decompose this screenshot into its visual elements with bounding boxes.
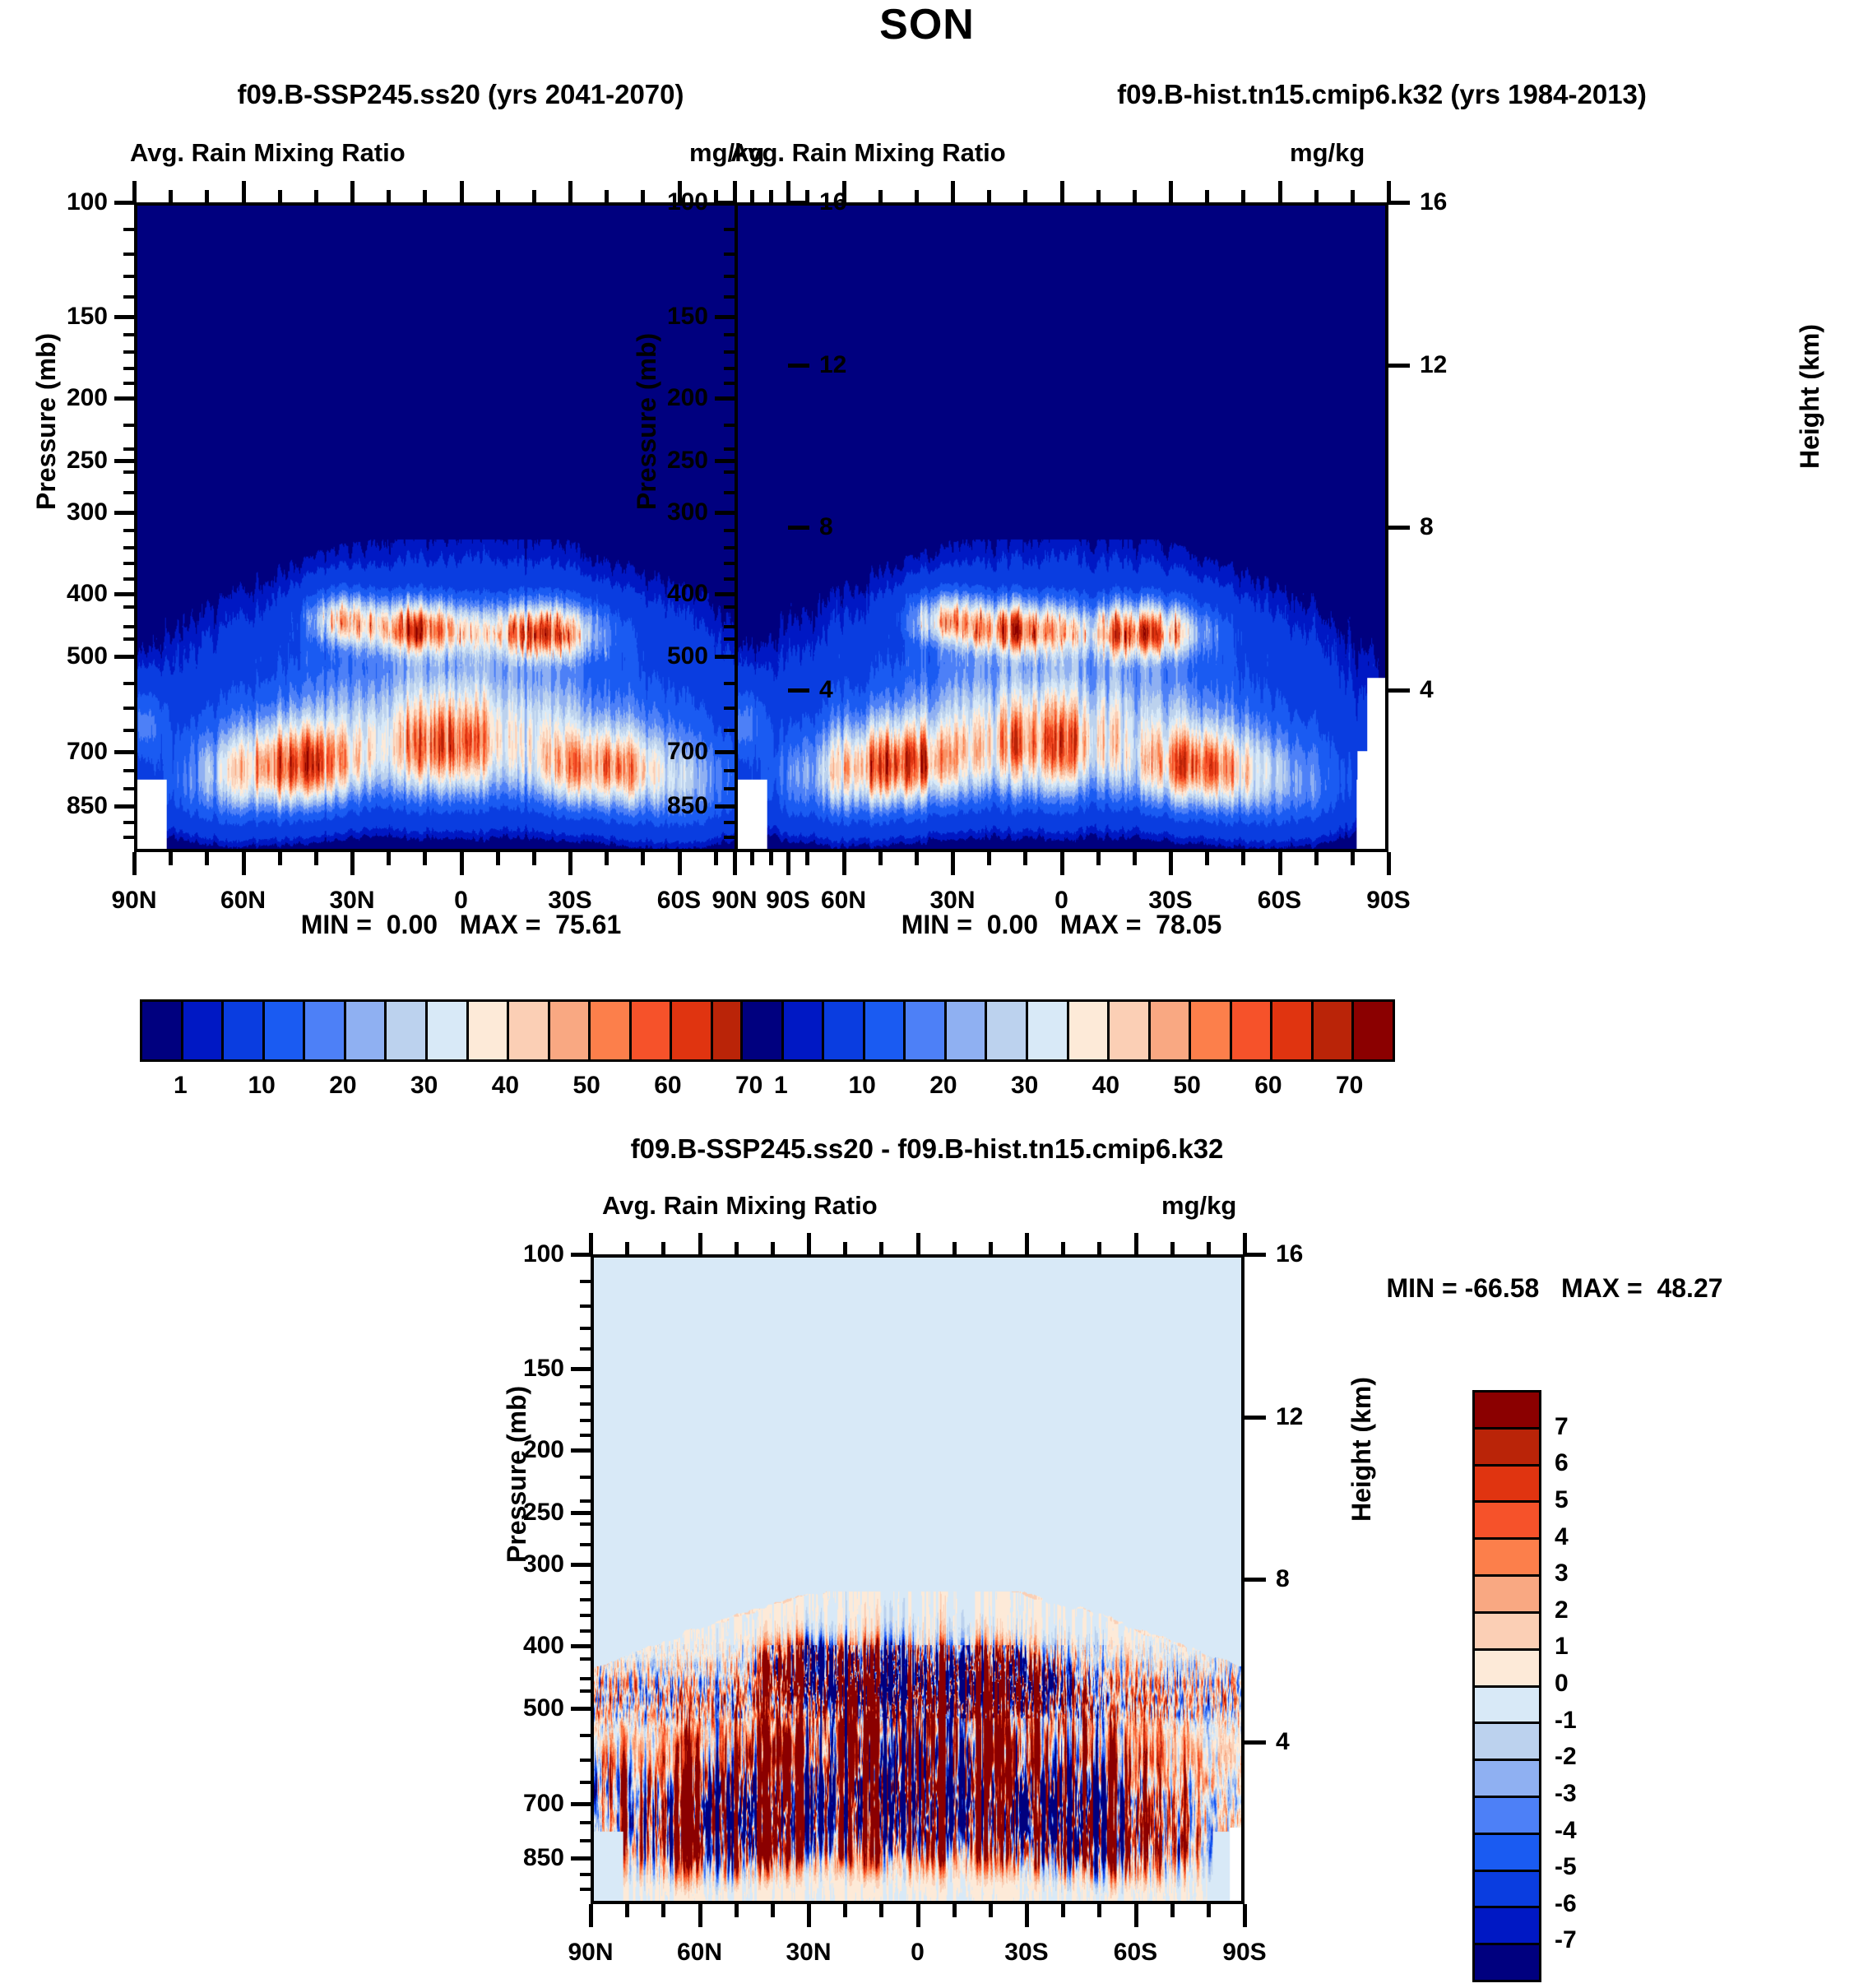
y-tick-minor — [724, 729, 735, 732]
x-tick-minor-top — [423, 190, 427, 202]
colorbar-cell[interactable] — [824, 1002, 865, 1059]
x-tick-major-top — [1060, 181, 1064, 202]
y-tick-minor — [123, 367, 135, 370]
x-tick-minor-top — [843, 1242, 847, 1254]
x-tick-major-top — [698, 1233, 702, 1254]
colorbar-cell[interactable] — [346, 1002, 387, 1059]
y-tick-minor — [580, 1689, 591, 1693]
colorbar-cell[interactable] — [1028, 1002, 1069, 1059]
colorbar-cell[interactable] — [632, 1002, 673, 1059]
y-tick-minor — [123, 253, 135, 256]
colorbar-cell[interactable] — [1232, 1002, 1273, 1059]
colorbar-cell[interactable] — [1475, 1503, 1539, 1540]
x-tick-major-bottom — [1169, 852, 1173, 875]
colorbar-tick-label: -5 — [1555, 1853, 1577, 1881]
colorbar-cell[interactable] — [469, 1002, 510, 1059]
y2-tick-label: 16 — [819, 188, 877, 216]
y-tick-label: 400 — [459, 1632, 564, 1660]
x-tick-major-top — [916, 1233, 920, 1254]
y-tick-label: 400 — [603, 580, 708, 608]
y2-tick-major — [1244, 1740, 1266, 1745]
y-tick-minor — [724, 605, 735, 609]
y-tick-minor — [123, 382, 135, 385]
colorbar-cell[interactable] — [1475, 1908, 1539, 1945]
x-tick-minor-bottom — [915, 852, 919, 865]
panel-bottom-diff-ylabel: Pressure (mb) — [502, 1386, 532, 1563]
y2-tick-major — [788, 364, 809, 368]
colorbar-cell[interactable] — [672, 1002, 713, 1059]
y-tick-minor — [580, 1629, 591, 1633]
y-tick-major — [571, 1802, 592, 1806]
colorbar-tick-label: 2 — [1555, 1596, 1569, 1624]
x-tick-minor-top — [1351, 190, 1355, 202]
y-tick-minor — [123, 350, 135, 354]
y-tick-minor — [123, 787, 135, 790]
x-tick-major-bottom — [842, 852, 846, 875]
x-tick-minor-top — [989, 1242, 993, 1254]
y-tick-minor — [123, 637, 135, 641]
x-tick-major-top — [589, 1233, 593, 1254]
colorbar-tick-label: 7 — [1555, 1413, 1569, 1441]
colorbar-tick-label: 50 — [1173, 1072, 1200, 1100]
y-tick-minor — [724, 333, 735, 336]
x-tick-minor-bottom — [714, 852, 718, 865]
colorbar-cell[interactable] — [784, 1002, 825, 1059]
panel-bottom-diff-units-label: mg/kg — [1161, 1191, 1236, 1221]
y2-tick-label: 16 — [1420, 188, 1477, 216]
colorbar-cell[interactable] — [1151, 1002, 1192, 1059]
x-tick-minor-bottom — [987, 852, 991, 865]
x-tick-major-top — [1025, 1233, 1029, 1254]
y-tick-minor — [580, 1781, 591, 1784]
colorbar-cell[interactable] — [1272, 1002, 1314, 1059]
colorbar-cell[interactable] — [1475, 1540, 1539, 1577]
colorbar-cell[interactable] — [1475, 1467, 1539, 1504]
y-tick-minor — [724, 577, 735, 581]
x-tick-minor-top — [169, 190, 173, 202]
y-tick-minor — [724, 707, 735, 710]
y-tick-label: 300 — [603, 498, 708, 526]
colorbar-tick-label: 5 — [1555, 1486, 1569, 1514]
y-tick-minor — [580, 1327, 591, 1330]
y-tick-minor — [580, 1888, 591, 1891]
y-tick-minor — [123, 605, 135, 609]
y-tick-label: 100 — [2, 188, 108, 216]
colorbar-cell[interactable] — [224, 1002, 265, 1059]
x-tick-minor-bottom — [878, 852, 883, 865]
y-tick-minor — [580, 1677, 591, 1680]
colorbar-cell[interactable] — [550, 1002, 591, 1059]
x-tick-minor-top — [532, 190, 536, 202]
x-tick-major-bottom — [786, 852, 790, 875]
panel-top-right-y2label: Height (km) — [1795, 324, 1825, 469]
x-tick-major-bottom — [733, 852, 737, 875]
y-tick-major — [715, 396, 736, 401]
y-tick-minor — [724, 769, 735, 772]
x-tick-minor-bottom — [169, 852, 173, 865]
y-tick-label: 850 — [603, 792, 708, 820]
panel-bottom-diff-variable-label: Avg. Rain Mixing Ratio — [602, 1191, 878, 1221]
colorbar-tick-label: 40 — [1092, 1072, 1119, 1100]
y-tick-major — [571, 1448, 592, 1453]
y-tick-minor — [580, 1657, 591, 1661]
y-tick-minor — [580, 1614, 591, 1617]
y-tick-major — [114, 750, 136, 754]
x-tick-major-top — [951, 181, 955, 202]
x-tick-minor-top — [1097, 1242, 1101, 1254]
colorbar-cell[interactable] — [142, 1002, 183, 1059]
y2-tick-label: 8 — [819, 513, 877, 541]
x-tick-minor-top — [735, 1242, 739, 1254]
panel-bottom-diff-min-value: -66.58 — [1465, 1273, 1540, 1303]
y-tick-label: 200 — [2, 384, 108, 412]
x-tick-minor-bottom — [989, 1904, 993, 1917]
y-tick-minor — [123, 491, 135, 494]
x-tick-major-top — [132, 181, 137, 202]
y-tick-minor — [724, 625, 735, 628]
x-tick-minor-top — [878, 190, 883, 202]
y2-tick-major — [1244, 1578, 1266, 1582]
y2-tick-label: 8 — [1276, 1565, 1333, 1593]
x-tick-minor-top — [1133, 190, 1137, 202]
y2-tick-major — [1388, 526, 1410, 530]
x-tick-major-bottom — [1025, 1904, 1029, 1927]
colorbar-cell[interactable] — [1475, 1577, 1539, 1614]
colorbar-tick-label: 3 — [1555, 1559, 1569, 1587]
y-tick-minor — [580, 1347, 591, 1351]
y-tick-major — [715, 459, 736, 463]
y-tick-minor — [724, 787, 735, 790]
x-tick-major-bottom — [916, 1904, 920, 1927]
y2-tick-major — [1388, 688, 1410, 693]
y2-tick-major — [1388, 201, 1410, 205]
y-tick-minor — [123, 447, 135, 451]
y-tick-minor — [724, 836, 735, 839]
y-tick-minor — [580, 1522, 591, 1526]
y-tick-minor — [724, 253, 735, 256]
x-tick-minor-bottom — [769, 852, 773, 865]
panel-bottom-diff-minmax: MIN = -66.58 MAX = 48.27 — [1283, 1273, 1826, 1304]
x-tick-minor-bottom — [205, 852, 209, 865]
x-tick-major-top — [733, 181, 737, 202]
y-tick-label: 150 — [459, 1355, 564, 1383]
panel-bottom-diff-plot — [591, 1254, 1244, 1904]
x-tick-major-bottom — [1278, 852, 1282, 875]
x-tick-minor-top — [314, 190, 318, 202]
colorbar-cell[interactable] — [1475, 1430, 1539, 1467]
panel-top-right-ylabel: Pressure (mb) — [632, 333, 662, 510]
y-tick-minor — [724, 562, 735, 565]
x-tick-major-top — [460, 181, 464, 202]
y2-tick-label: 12 — [1420, 351, 1477, 379]
y-tick-minor — [123, 769, 135, 772]
panel-bottom-diff-min-label: MIN = — [1386, 1273, 1457, 1303]
panel-top-left-title: f09.B-SSP245.ss20 (yrs 2041-2070) — [33, 79, 888, 110]
x-tick-minor-top — [1096, 190, 1101, 202]
x-tick-major-top — [242, 181, 246, 202]
y-tick-minor — [724, 529, 735, 532]
y-tick-minor — [580, 1419, 591, 1422]
panel-bottom-diff-y2label: Height (km) — [1346, 1377, 1377, 1522]
x-tick-major-top — [1134, 1233, 1138, 1254]
x-tick-minor-bottom — [1205, 852, 1209, 865]
y-tick-label: 100 — [459, 1240, 564, 1268]
x-tick-minor-top — [805, 190, 809, 202]
y-tick-minor — [580, 1543, 591, 1546]
colorbar-tick-label: 70 — [735, 1072, 762, 1100]
y-tick-minor — [724, 447, 735, 451]
y-tick-label: 850 — [459, 1844, 564, 1872]
y-tick-label: 150 — [603, 303, 708, 331]
y-tick-major — [571, 1511, 592, 1515]
panel-top-left-colorbar[interactable] — [140, 999, 795, 1062]
colorbar-cell[interactable] — [1069, 1002, 1110, 1059]
y-tick-minor — [580, 1434, 591, 1437]
x-tick-minor-top — [1023, 190, 1027, 202]
panel-top-left-variable-label: Avg. Rain Mixing Ratio — [130, 138, 406, 168]
panel-bottom-diff-max-value: 48.27 — [1657, 1273, 1722, 1303]
y-tick-minor — [123, 562, 135, 565]
colorbar-tick-label: 40 — [492, 1072, 519, 1100]
y2-tick-label: 12 — [819, 351, 877, 379]
colorbar-cell[interactable] — [265, 1002, 306, 1059]
y-tick-major — [715, 655, 736, 659]
x-tick-major-bottom — [350, 852, 355, 875]
colorbar-cell[interactable] — [1314, 1002, 1355, 1059]
panel-bottom-diff-colorbar[interactable] — [1472, 1390, 1541, 1982]
y-tick-label: 300 — [2, 498, 108, 526]
colorbar-cell[interactable] — [428, 1002, 469, 1059]
y-tick-minor — [724, 491, 735, 494]
x-tick-minor-top — [1241, 190, 1245, 202]
x-tick-minor-bottom — [1133, 852, 1137, 865]
y-tick-label: 300 — [459, 1550, 564, 1578]
x-tick-minor-bottom — [1096, 852, 1101, 865]
colorbar-cell[interactable] — [305, 1002, 346, 1059]
y-tick-minor — [724, 682, 735, 685]
x-tick-major-bottom — [678, 852, 682, 875]
x-tick-minor-top — [661, 1242, 665, 1254]
y2-tick-label: 8 — [1420, 513, 1477, 541]
x-tick-minor-top — [625, 1242, 629, 1254]
colorbar-cell[interactable] — [865, 1002, 906, 1059]
x-tick-minor-bottom — [1097, 1904, 1101, 1917]
figure-suptitle: SON — [0, 0, 1854, 49]
colorbar-cell[interactable] — [183, 1002, 225, 1059]
x-tick-major-bottom — [242, 852, 246, 875]
colorbar-cell[interactable] — [1354, 1002, 1393, 1059]
y2-tick-label: 12 — [1276, 1403, 1333, 1431]
colorbar-cell[interactable] — [1475, 1688, 1539, 1725]
colorbar-tick-label: 60 — [654, 1072, 681, 1100]
colorbar-tick-label: 30 — [410, 1072, 438, 1100]
colorbar-cell[interactable] — [987, 1002, 1028, 1059]
x-tick-minor-bottom — [952, 1904, 957, 1917]
x-tick-major-top — [350, 181, 355, 202]
y-tick-minor — [580, 1821, 591, 1824]
colorbar-cell[interactable] — [1475, 1761, 1539, 1798]
y2-tick-major — [1244, 1253, 1266, 1257]
x-tick-minor-bottom — [805, 852, 809, 865]
colorbar-cell[interactable] — [1475, 1724, 1539, 1761]
x-tick-minor-top — [1207, 1242, 1211, 1254]
y2-tick-label: 4 — [819, 676, 877, 704]
colorbar-cell[interactable] — [906, 1002, 947, 1059]
y-tick-label: 200 — [459, 1436, 564, 1464]
colorbar-cell[interactable] — [1475, 1393, 1539, 1430]
x-tick-major-top — [568, 181, 572, 202]
y-tick-minor — [123, 577, 135, 581]
y-tick-minor — [123, 424, 135, 427]
x-tick-minor-bottom — [532, 852, 536, 865]
x-tick-minor-bottom — [1351, 852, 1355, 865]
colorbar-cell[interactable] — [1475, 1835, 1539, 1872]
x-tick-minor-bottom — [1170, 1904, 1175, 1917]
colorbar-tick-label: 50 — [572, 1072, 600, 1100]
y-tick-label: 250 — [459, 1499, 564, 1527]
y2-tick-major — [1388, 364, 1410, 368]
x-tick-major-top — [786, 181, 790, 202]
colorbar-tick-label: 6 — [1555, 1449, 1569, 1477]
x-tick-minor-bottom — [1241, 852, 1245, 865]
y-tick-label: 500 — [459, 1694, 564, 1722]
panel-top-right-units-label: mg/kg — [1290, 138, 1365, 168]
x-tick-major-top — [842, 181, 846, 202]
y-tick-minor — [724, 228, 735, 231]
x-tick-label: 90S — [1323, 887, 1454, 915]
y-tick-major — [715, 315, 736, 319]
colorbar-cell[interactable] — [743, 1002, 784, 1059]
y-tick-minor — [580, 1499, 591, 1503]
y-tick-minor — [123, 275, 135, 278]
x-tick-minor-bottom — [735, 1904, 739, 1917]
x-tick-major-bottom — [1387, 852, 1391, 875]
x-tick-minor-bottom — [879, 1904, 883, 1917]
panel-top-right-title: f09.B-hist.tn15.cmip6.k32 (yrs 1984-2013… — [946, 79, 1818, 110]
colorbar-tick-label: 20 — [929, 1072, 957, 1100]
colorbar-cell[interactable] — [1191, 1002, 1232, 1059]
colorbar-cell[interactable] — [509, 1002, 550, 1059]
y-tick-label: 500 — [603, 642, 708, 670]
colorbar-cell[interactable] — [1475, 1614, 1539, 1651]
x-tick-minor-bottom — [625, 1904, 629, 1917]
y-tick-major — [114, 511, 136, 515]
x-tick-minor-bottom — [843, 1904, 847, 1917]
x-tick-minor-bottom — [605, 852, 609, 865]
x-tick-minor-top — [496, 190, 500, 202]
colorbar-tick-label: 4 — [1555, 1523, 1569, 1551]
colorbar-cell[interactable] — [387, 1002, 428, 1059]
y-tick-label: 700 — [459, 1790, 564, 1818]
y-tick-minor — [724, 295, 735, 299]
y-tick-minor — [724, 367, 735, 370]
colorbar-tick-label: -7 — [1555, 1926, 1577, 1954]
y-tick-major — [571, 1563, 592, 1567]
colorbar-cell[interactable] — [947, 1002, 988, 1059]
colorbar-cell[interactable] — [591, 1002, 632, 1059]
y-tick-label: 400 — [2, 580, 108, 608]
colorbar-tick-label: -1 — [1555, 1707, 1577, 1735]
x-tick-minor-top — [879, 1242, 883, 1254]
x-tick-major-bottom — [1243, 1904, 1247, 1927]
x-tick-major-top — [1169, 181, 1173, 202]
y-tick-minor — [724, 424, 735, 427]
y-tick-minor — [580, 1581, 591, 1584]
y-tick-major — [715, 511, 736, 515]
x-tick-minor-bottom — [496, 852, 500, 865]
colorbar-tick-label: -2 — [1555, 1743, 1577, 1771]
y-tick-minor — [724, 821, 735, 824]
x-tick-minor-top — [205, 190, 209, 202]
x-tick-major-bottom — [698, 1904, 702, 1927]
y-tick-label: 700 — [603, 738, 708, 766]
x-tick-minor-top — [278, 190, 282, 202]
panel-bottom-diff-contour-canvas — [594, 1258, 1241, 1901]
x-tick-major-bottom — [132, 852, 137, 875]
y-tick-minor — [123, 682, 135, 685]
x-tick-minor-top — [750, 190, 754, 202]
x-tick-major-top — [807, 1233, 811, 1254]
colorbar-cell[interactable] — [1475, 1651, 1539, 1688]
y-tick-major — [715, 804, 736, 809]
x-tick-minor-bottom — [771, 1904, 775, 1917]
x-tick-minor-bottom — [750, 852, 754, 865]
y-tick-label: 500 — [2, 642, 108, 670]
y-tick-major — [571, 1367, 592, 1371]
x-tick-minor-bottom — [1314, 852, 1319, 865]
y2-tick-major — [788, 526, 809, 530]
x-tick-minor-bottom — [423, 852, 427, 865]
x-tick-minor-bottom — [314, 852, 318, 865]
colorbar-tick-label: 0 — [1555, 1670, 1569, 1698]
y-tick-major — [114, 315, 136, 319]
y-tick-minor — [580, 1476, 591, 1479]
colorbar-cell[interactable] — [1475, 1945, 1539, 1980]
x-tick-minor-bottom — [1061, 1904, 1065, 1917]
x-tick-major-bottom — [568, 852, 572, 875]
y-tick-minor — [580, 1759, 591, 1762]
y-tick-minor — [123, 529, 135, 532]
y-tick-minor — [123, 228, 135, 231]
colorbar-cell[interactable] — [1475, 1872, 1539, 1909]
x-tick-minor-bottom — [1207, 1904, 1211, 1917]
y-tick-label: 250 — [2, 447, 108, 475]
x-tick-major-top — [1278, 181, 1282, 202]
x-tick-minor-top — [915, 190, 919, 202]
y-tick-label: 200 — [603, 384, 708, 412]
y-tick-minor — [123, 707, 135, 710]
colorbar-cell[interactable] — [1475, 1798, 1539, 1835]
panel-top-right-colorbar[interactable] — [740, 999, 1395, 1062]
y-tick-minor — [580, 1873, 591, 1876]
y-tick-minor — [724, 350, 735, 354]
x-tick-minor-top — [771, 1242, 775, 1254]
y-tick-major — [114, 592, 136, 596]
y-tick-minor — [580, 1304, 591, 1308]
y-tick-minor — [724, 470, 735, 474]
colorbar-tick-label: 20 — [329, 1072, 356, 1100]
y-tick-minor — [724, 546, 735, 549]
y-tick-label: 850 — [2, 792, 108, 820]
y-tick-minor — [580, 1839, 591, 1842]
y-tick-minor — [123, 470, 135, 474]
x-tick-minor-top — [952, 1242, 957, 1254]
y-tick-major — [571, 1856, 592, 1861]
colorbar-tick-label: 10 — [848, 1072, 875, 1100]
x-tick-major-bottom — [951, 852, 955, 875]
colorbar-cell[interactable] — [1110, 1002, 1151, 1059]
colorbar-tick-label: 1 — [174, 1072, 188, 1100]
